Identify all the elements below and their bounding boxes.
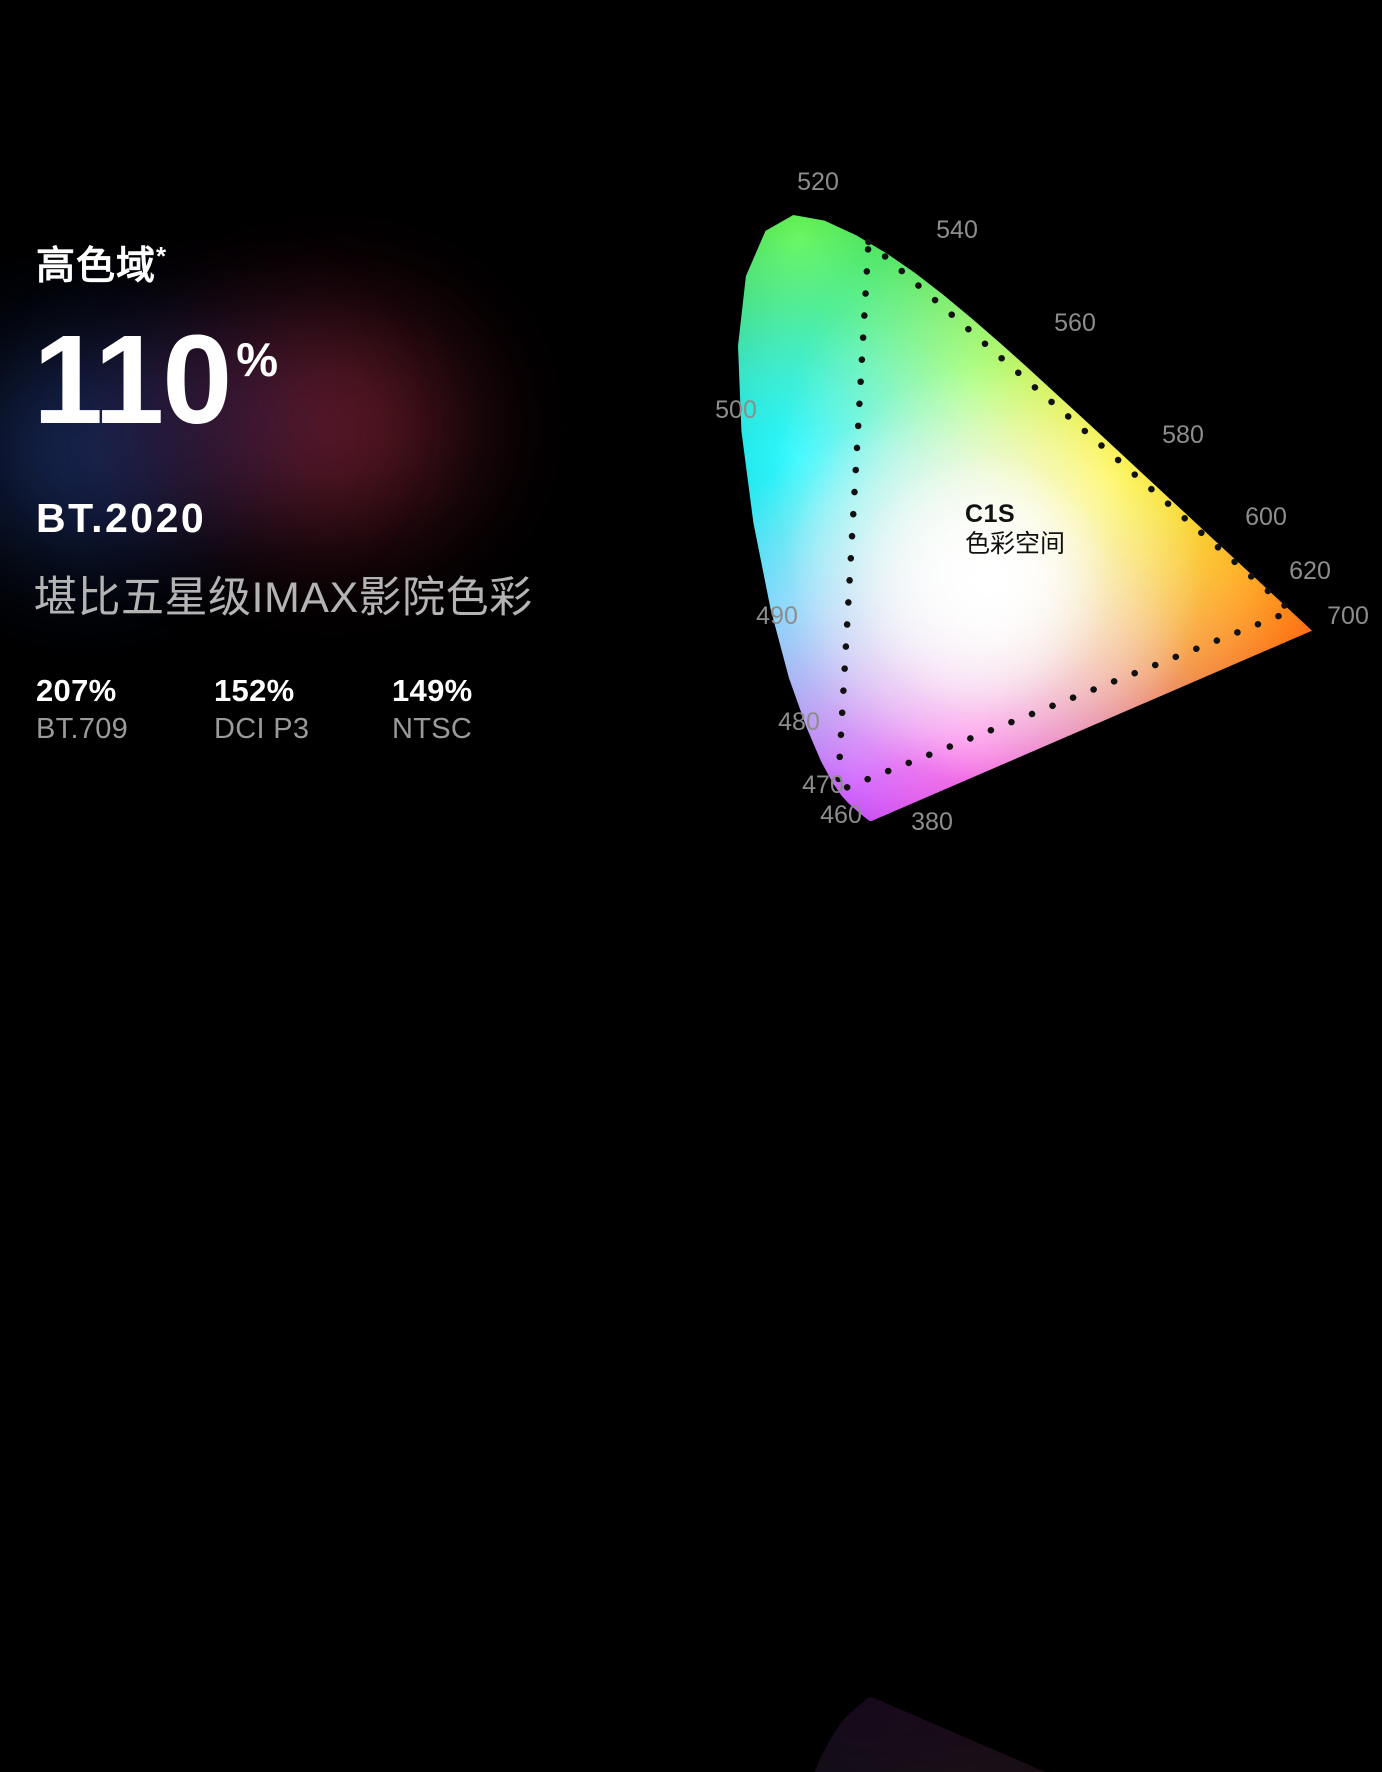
kicker-heading: 高色域* xyxy=(36,243,167,286)
stat-label: DCI P3 xyxy=(214,711,392,749)
stats-row: 207% BT.709 152% DCI P3 149% NTSC xyxy=(36,672,570,748)
wavelength-tick-label: 500 xyxy=(715,396,757,424)
tagline-text: 堪比五星级IMAX影院色彩 xyxy=(34,574,533,623)
wavelength-tick-label: 470 xyxy=(802,771,844,799)
cie-chromaticity-chart: C1S色彩空间380460470480490500520540560580600… xyxy=(660,140,1382,886)
headline-unit: % xyxy=(236,336,278,383)
cie-diagram-reflection xyxy=(660,1632,1382,1772)
color-standard-label: BT.2020 xyxy=(36,498,206,539)
wavelength-tick-label: 560 xyxy=(1054,309,1096,337)
wavelength-tick-label: 540 xyxy=(936,216,978,244)
gamut-label-en: C1S xyxy=(965,500,1015,528)
wavelength-tick-label: 480 xyxy=(778,708,820,736)
headline-metric: 110 % xyxy=(33,322,278,438)
wavelength-tick-label: 620 xyxy=(1289,557,1331,585)
wavelength-tick-label: 490 xyxy=(756,602,798,630)
wavelength-tick-label: 520 xyxy=(797,168,839,196)
stat-item: 152% DCI P3 xyxy=(214,672,392,748)
stat-value: 207% xyxy=(36,672,214,711)
stat-label: NTSC xyxy=(392,711,570,749)
copy-panel: 高色域* 110 % BT.2020 堪比五星级IMAX影院色彩 207% BT… xyxy=(0,0,700,886)
cie-diagram-svg: C1S色彩空间380460470480490500520540560580600… xyxy=(660,140,1382,886)
headline-number: 110 xyxy=(33,322,230,438)
gamut-label-cn: 色彩空间 xyxy=(965,530,1065,558)
stat-value: 149% xyxy=(392,672,570,711)
wavelength-tick-label: 380 xyxy=(911,808,953,836)
wavelength-tick-label: 580 xyxy=(1162,421,1204,449)
kicker-asterisk: * xyxy=(156,241,167,271)
stat-value: 152% xyxy=(214,672,392,711)
stat-item: 207% BT.709 xyxy=(36,672,214,748)
wavelength-tick-label: 700 xyxy=(1327,602,1369,630)
stat-label: BT.709 xyxy=(36,711,214,749)
wavelength-tick-label: 460 xyxy=(820,801,862,829)
kicker-text: 高色域 xyxy=(36,245,156,288)
wavelength-tick-label: 600 xyxy=(1245,503,1287,531)
stat-item: 149% NTSC xyxy=(392,672,570,748)
